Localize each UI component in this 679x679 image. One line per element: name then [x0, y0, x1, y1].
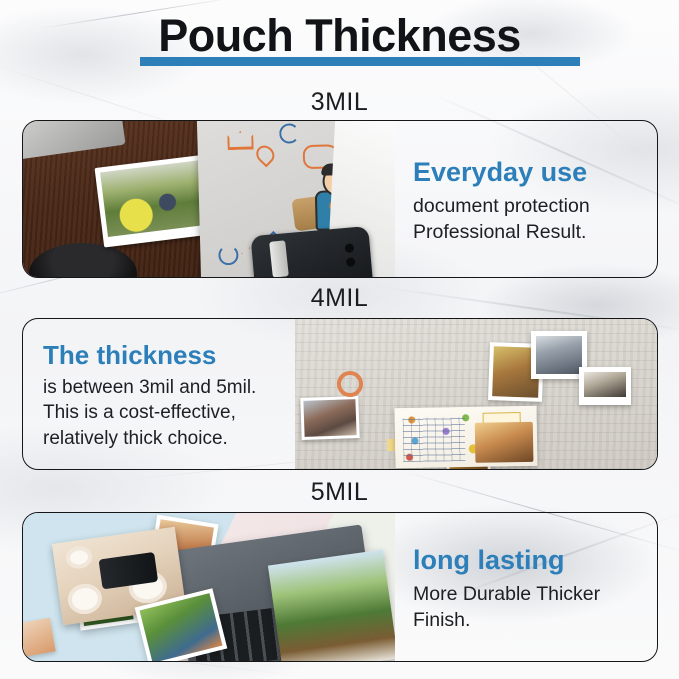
smartphone: [251, 226, 374, 277]
laminated-photo-landscape: [268, 549, 395, 661]
section-body-line: This is a cost-effective,: [43, 400, 279, 425]
page-title-text: Pouch Thickness: [158, 12, 521, 59]
washi-tape-ring: [337, 371, 363, 397]
section-headline-4mil: The thickness: [43, 341, 279, 371]
laminated-photo-group: [300, 396, 359, 440]
section-image-3mil: [23, 121, 395, 277]
section-copy-4mil: The thickness is between 3mil and 5mil. …: [23, 319, 295, 469]
section-panel-4mil: The thickness is between 3mil and 5mil. …: [22, 318, 658, 470]
section-image-5mil: [23, 513, 395, 661]
mil-label-4mil: 4MIL: [0, 284, 679, 313]
spiral-doodle-icon: [279, 123, 300, 144]
laminated-photo-graduation: [579, 367, 631, 405]
section-body-line: More Durable Thicker: [413, 582, 641, 608]
crown-doodle-icon: [227, 130, 253, 150]
section-body-line: Finish.: [413, 608, 641, 634]
smile-doodle-icon: [218, 245, 239, 266]
section-body-line: document protection: [413, 194, 641, 220]
section-panel-5mil: long lasting More Durable Thicker Finish…: [22, 512, 658, 662]
mil-label-5mil: 5MIL: [0, 478, 679, 507]
section-panel-3mil: Everyday use document protection Profess…: [22, 120, 658, 278]
mil-label-3mil: 3MIL: [0, 88, 679, 117]
calendar-scrapbook-card: [394, 406, 537, 468]
section-body-line: relatively thick choice.: [43, 426, 279, 451]
section-image-4mil: [295, 319, 657, 469]
section-body-line: is between 3mil and 5mil.: [43, 375, 279, 400]
section-body-line: Professional Result.: [413, 220, 641, 246]
heart-doodle-icon: [253, 142, 278, 167]
section-headline-3mil: Everyday use: [413, 157, 641, 188]
section-headline-5mil: long lasting: [413, 545, 641, 576]
section-copy-5mil: long lasting More Durable Thicker Finish…: [395, 513, 657, 661]
infographic-poster: Pouch Thickness 3MIL: [0, 0, 679, 679]
page-title: Pouch Thickness: [0, 12, 679, 59]
section-copy-3mil: Everyday use document protection Profess…: [395, 121, 657, 277]
